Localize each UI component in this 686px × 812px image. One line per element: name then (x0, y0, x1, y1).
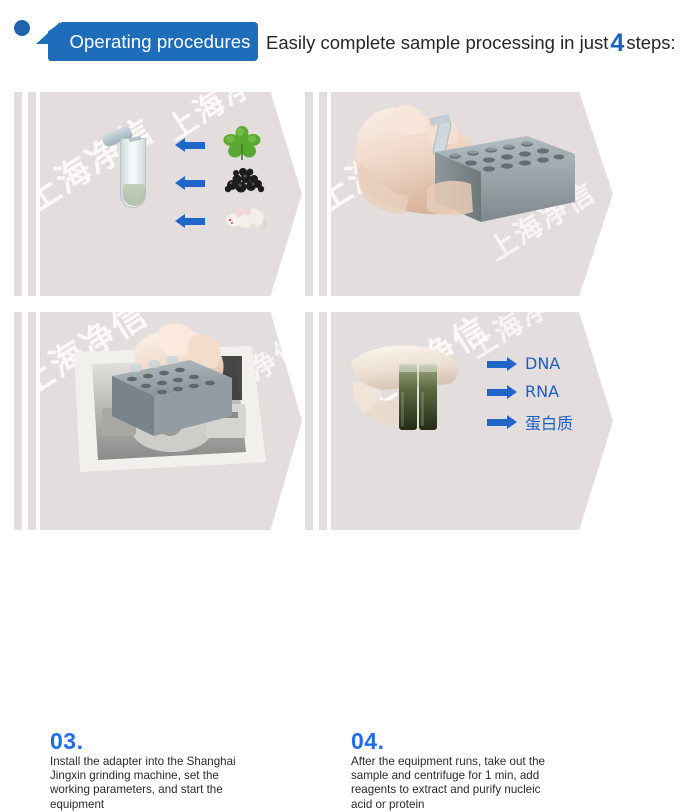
tagline-step-count: 4 (608, 29, 626, 57)
output-row-rna: RNA (487, 382, 559, 401)
page-tagline: Easily complete sample processing in jus… (266, 29, 676, 58)
badge-label: Operating procedures (56, 31, 251, 53)
operating-procedures-badge: Operating procedures (48, 22, 258, 61)
step-description: After the equipment runs, take out the s… (351, 755, 581, 812)
sample-row-leaf (175, 138, 205, 152)
card-body: 上海净信 上海净信 (40, 92, 302, 296)
step-2-illustration (331, 92, 613, 296)
step-card-3: 上海净信 上海净信 (12, 312, 302, 530)
page-header: Operating procedures Easily complete sam… (0, 0, 686, 82)
step-number: 04. (351, 728, 384, 755)
step-description: Install the adapter into the Shanghai Ji… (50, 755, 272, 812)
left-arrow-icon (175, 214, 205, 228)
output-label-dna: DNA (525, 354, 560, 373)
step-3-illustration (40, 312, 302, 530)
step-1-illustration (40, 92, 302, 296)
card-stripe-inner (28, 312, 36, 530)
card-stripe-inner (319, 312, 327, 530)
right-arrow-icon (487, 415, 517, 429)
output-row-dna: DNA (487, 354, 560, 373)
card-stripe-outer (305, 312, 313, 530)
output-label-protein: 蛋白质 (525, 410, 573, 434)
right-arrow-icon (487, 357, 517, 371)
badge-dot-icon (14, 20, 30, 36)
centrifuge-tube-icon (120, 130, 146, 208)
card-stripe-outer (14, 92, 22, 296)
output-label-rna: RNA (525, 382, 559, 401)
tube-body (120, 138, 146, 208)
tagline-after: steps: (626, 32, 675, 53)
grinding-beads-icon (223, 165, 265, 197)
card-stripe-outer (305, 92, 313, 296)
sample-row-beads (175, 176, 205, 190)
card-body: 上海净信 上海净信 (331, 312, 613, 530)
tube-contents (123, 184, 145, 206)
left-arrow-icon (175, 138, 205, 152)
card-stripe-inner (319, 92, 327, 296)
card-stripe-outer (14, 312, 22, 530)
right-arrow-icon (487, 385, 517, 399)
step-card-2: 上海净信 上海净信 (303, 92, 613, 296)
installing-adapter-photo (40, 312, 302, 530)
lab-mouse-icon (223, 202, 267, 232)
step-4-illustration: DNA RNA 蛋白质 (331, 312, 613, 530)
sample-row-mouse (175, 214, 205, 228)
hand-holding-adapter-photo (331, 92, 613, 296)
card-stripe-inner (28, 92, 36, 296)
tagline-before: Easily complete sample processing in jus… (266, 32, 608, 53)
left-arrow-icon (175, 176, 205, 190)
step-card-1: 上海净信 上海净信 (12, 92, 302, 296)
step-card-4: 上海净信 上海净信 (303, 312, 613, 530)
output-row-protein: 蛋白质 (487, 410, 573, 434)
green-leaf-icon (223, 126, 261, 162)
card-body: 上海净信 上海净信 (40, 312, 302, 530)
card-body: 上海净信 上海净信 (331, 92, 613, 296)
step-number: 03. (50, 728, 83, 755)
